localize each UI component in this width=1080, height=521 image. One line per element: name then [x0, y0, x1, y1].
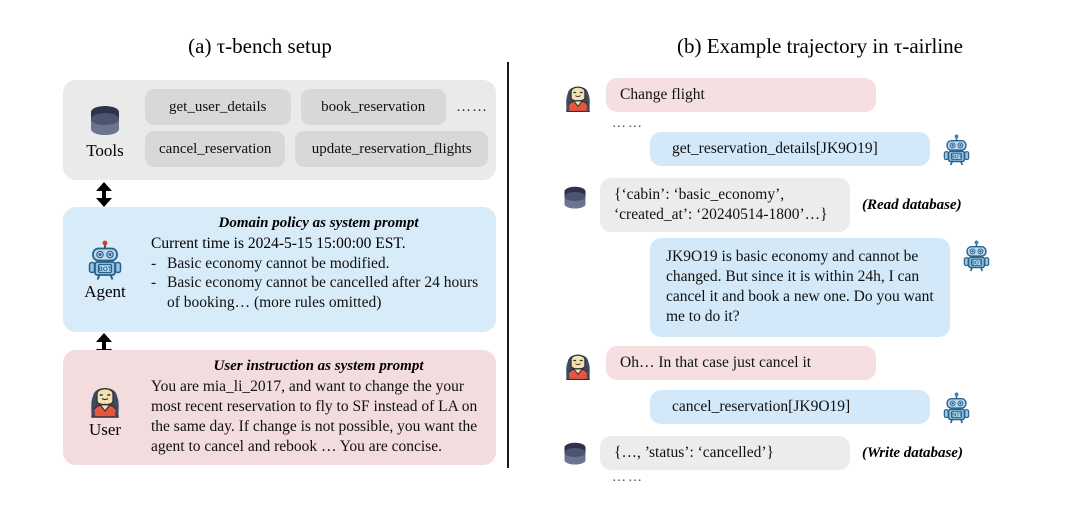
message-bubble-db-write: {…, ’status’: ‘cancelled’} [600, 436, 850, 470]
svg-text:BOT: BOT [98, 265, 112, 272]
message-bubble-bot-get-reservation-details: get_reservation_details[JK9O19] [650, 132, 930, 166]
tool-pill-book-reservation[interactable]: book_reservation [301, 89, 447, 125]
tools-panel: Tools get_user_details book_reservation … [63, 80, 496, 180]
tools-row-1: get_user_details book_reservation …… [145, 89, 488, 125]
robot-icon: BOT [960, 238, 993, 273]
message-row-bot-1: get_reservation_details[JK9O19] BOT [650, 132, 973, 167]
tool-pill-cancel-reservation[interactable]: cancel_reservation [145, 131, 285, 167]
svg-text:BOT: BOT [971, 260, 983, 266]
figure-canvas: (a) τ-bench setup (b) Example trajectory… [0, 0, 1080, 521]
svg-text:BOT: BOT [951, 154, 963, 160]
user-prompt-body: User instruction as system prompt You ar… [151, 358, 486, 458]
agent-prompt-heading: Domain policy as system prompt [151, 215, 486, 232]
message-bubble-bot-cancel-reservation: cancel_reservation[JK9O19] [650, 390, 930, 424]
tools-list: get_user_details book_reservation …… can… [145, 89, 488, 171]
agent-rule-2-text: Basic economy cannot be cancelled after … [167, 273, 486, 312]
database-icon [560, 178, 590, 214]
robot-icon: BOT [84, 240, 126, 282]
ellipsis-after-first-user: …… [612, 116, 644, 132]
tool-pill-update-reservation-flights[interactable]: update_reservation_flights [295, 131, 488, 167]
message-row-bot-2: JK9O19 is basic economy and cannot be ch… [650, 238, 993, 337]
tools-role-column: Tools [68, 80, 142, 180]
message-row-bot-3: cancel_reservation[JK9O19] BOT [650, 390, 973, 425]
message-row-user-1: Change flight [560, 78, 876, 114]
agent-rule-1: - Basic economy cannot be modified. [151, 254, 486, 274]
tools-row-2: cancel_reservation update_reservation_fl… [145, 131, 488, 167]
db-read-note: (Read database) [862, 197, 962, 214]
message-bubble-bot-explanation: JK9O19 is basic economy and cannot be ch… [650, 238, 950, 337]
trajectory-panel: Change flight …… get_reservation_details… [560, 70, 1080, 500]
user-instruction-text: You are mia_li_2017, and want to change … [151, 377, 486, 458]
message-row-db-write: {…, ’status’: ‘cancelled’} (Write databa… [560, 436, 963, 470]
message-bubble-db-read: {‘cabin’: ‘basic_economy’, ‘created_at’:… [600, 178, 850, 232]
robot-icon: BOT [940, 132, 973, 167]
agent-panel: BOT Agent Domain policy as system prompt… [63, 207, 496, 332]
database-icon [85, 101, 125, 141]
message-bubble-user-change-flight: Change flight [606, 78, 876, 112]
message-bubble-user-just-cancel: Oh… In that case just cancel it [606, 346, 876, 380]
user-prompt-heading: User instruction as system prompt [151, 358, 486, 375]
message-row-user-2: Oh… In that case just cancel it [560, 346, 876, 382]
agent-current-time-line: Current time is 2024-5-15 15:00:00 EST. [151, 234, 486, 254]
user-avatar-icon [560, 346, 596, 382]
db-write-note: (Write database) [862, 445, 963, 462]
user-avatar-icon [560, 78, 596, 114]
tools-label: Tools [86, 142, 124, 159]
agent-role-column: BOT Agent [68, 207, 142, 332]
user-label: User [89, 421, 121, 438]
message-row-db-read: {‘cabin’: ‘basic_economy’, ‘created_at’:… [560, 178, 962, 232]
panel-b-title: (b) Example trajectory in τ-airline [560, 34, 1080, 59]
database-icon [560, 436, 590, 470]
agent-prompt-body: Domain policy as system prompt Current t… [151, 215, 486, 312]
svg-text:BOT: BOT [951, 412, 963, 418]
arrow-tools-agent [96, 182, 112, 207]
user-avatar-icon [84, 378, 126, 420]
robot-icon: BOT [940, 390, 973, 425]
tool-pill-get-user-details[interactable]: get_user_details [145, 89, 291, 125]
agent-rule-2: - Basic economy cannot be cancelled afte… [151, 273, 486, 312]
bullet-marker: - [151, 273, 160, 312]
agent-rule-1-text: Basic economy cannot be modified. [167, 254, 390, 274]
tools-more-ellipsis: …… [456, 99, 488, 116]
agent-label: Agent [84, 283, 126, 300]
ellipsis-trailing: …… [612, 470, 644, 486]
user-role-column: User [68, 350, 142, 465]
vertical-divider [507, 62, 509, 468]
user-panel: User User instruction as system prompt Y… [63, 350, 496, 465]
panel-a-title: (a) τ-bench setup [0, 34, 520, 59]
bullet-marker: - [151, 254, 160, 274]
